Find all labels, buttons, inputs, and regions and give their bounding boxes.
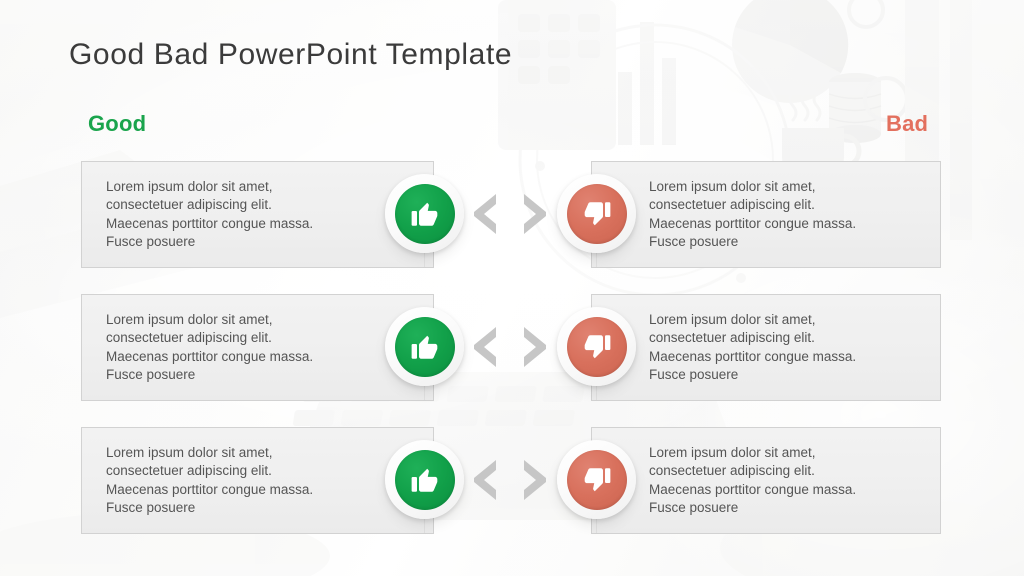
thumbs-down-icon [582,199,612,229]
bad-badge[interactable] [557,307,636,386]
good-panel-text: Lorem ipsum dolor sit amet, consectetuer… [82,178,313,252]
good-panel[interactable]: Lorem ipsum dolor sit amet, consectetuer… [81,294,434,401]
thumbs-down-icon [582,332,612,362]
bad-badge-inner [567,317,627,377]
chevron-right-icon [522,194,548,234]
bad-badge-inner [567,184,627,244]
comparison-row: Lorem ipsum dolor sit amet, consectetuer… [0,294,1024,401]
badge-connector [424,386,425,400]
thumbs-up-icon [410,465,440,495]
row-divider-chevrons [472,193,548,235]
bad-badge[interactable] [557,440,636,519]
good-badge[interactable] [385,174,464,253]
good-badge[interactable] [385,440,464,519]
good-panel-text: Lorem ipsum dolor sit amet, consectetuer… [82,311,313,385]
badge-connector [424,253,425,267]
row-divider-chevrons [472,459,548,501]
good-badge-inner [395,450,455,510]
thumbs-up-icon [410,332,440,362]
bad-badge-inner [567,450,627,510]
chevron-right-icon [522,327,548,367]
chevron-left-icon [472,327,498,367]
good-panel[interactable]: Lorem ipsum dolor sit amet, consectetuer… [81,427,434,534]
comparison-row: Lorem ipsum dolor sit amet, consectetuer… [0,427,1024,534]
good-panel-text: Lorem ipsum dolor sit amet, consectetuer… [82,444,313,518]
comparison-row: Lorem ipsum dolor sit amet, consectetuer… [0,161,1024,268]
thumbs-down-icon [582,465,612,495]
badge-connector [596,519,597,533]
good-badge[interactable] [385,307,464,386]
badge-connector [424,519,425,533]
badge-connector [596,253,597,267]
slide-canvas: Good Bad PowerPoint Template Good Bad Lo… [0,0,1024,576]
badge-connector [596,386,597,400]
bad-badge[interactable] [557,174,636,253]
chevron-right-icon [522,460,548,500]
good-panel[interactable]: Lorem ipsum dolor sit amet, consectetuer… [81,161,434,268]
bad-panel[interactable]: Lorem ipsum dolor sit amet, consectetuer… [591,161,941,268]
chevron-left-icon [472,460,498,500]
row-divider-chevrons [472,326,548,368]
comparison-rows: Lorem ipsum dolor sit amet, consectetuer… [0,0,1024,576]
bad-panel[interactable]: Lorem ipsum dolor sit amet, consectetuer… [591,294,941,401]
good-badge-inner [395,317,455,377]
bad-panel[interactable]: Lorem ipsum dolor sit amet, consectetuer… [591,427,941,534]
good-badge-inner [395,184,455,244]
thumbs-up-icon [410,199,440,229]
chevron-left-icon [472,194,498,234]
